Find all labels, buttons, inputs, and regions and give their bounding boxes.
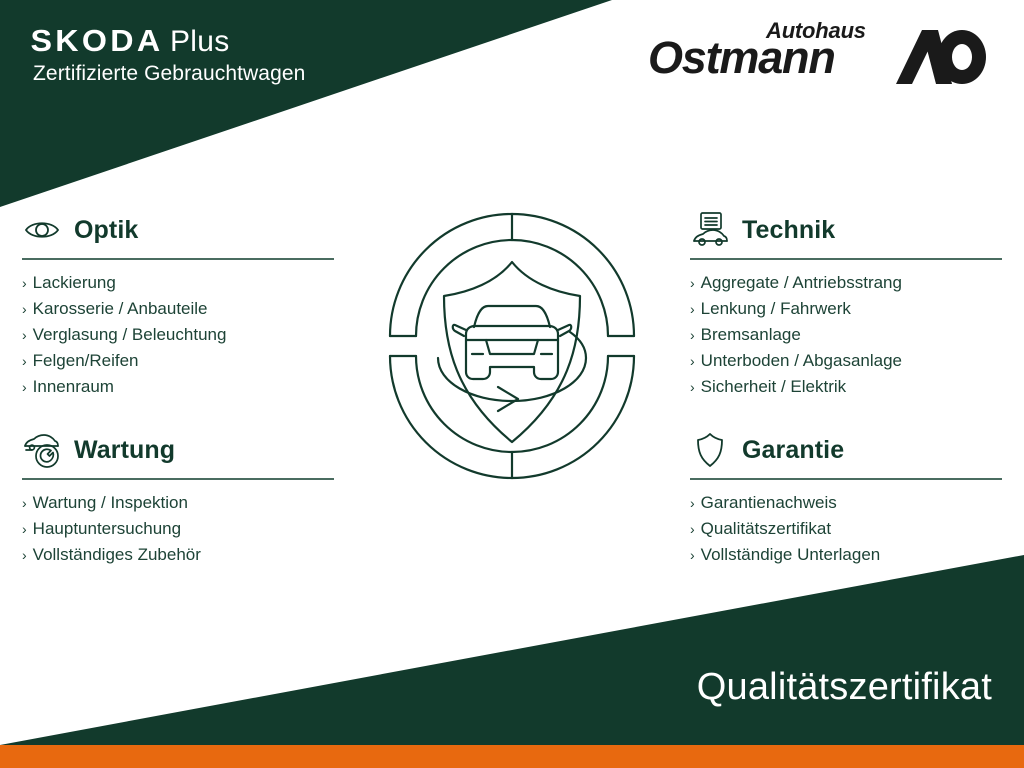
section-header: Wartung	[22, 428, 334, 472]
list-item-label: Verglasung / Beleuchtung	[33, 322, 227, 347]
list-item: ›Sicherheit / Elektrik	[690, 374, 1002, 400]
section-divider	[22, 478, 334, 480]
chevron-right-icon: ›	[22, 297, 27, 322]
list-item-label: Wartung / Inspektion	[33, 490, 188, 515]
chevron-right-icon: ›	[22, 517, 27, 542]
section-list: ›Wartung / Inspektion ›Hauptuntersuchung…	[22, 490, 334, 568]
chevron-right-icon: ›	[690, 375, 695, 400]
page-title: Qualitätszertifikat	[697, 666, 992, 709]
list-item: ›Vollständige Unterlagen	[690, 542, 1002, 568]
car-shield-circle-emblem	[352, 196, 672, 496]
autohaus-ostmann-logo: Autohaus Ostmann	[648, 18, 988, 96]
chevron-right-icon: ›	[22, 491, 27, 516]
skoda-mark-text: SKODA	[30, 24, 163, 58]
list-item-label: Sicherheit / Elektrik	[701, 374, 847, 399]
chevron-right-icon: ›	[22, 543, 27, 568]
list-item-label: Garantienachweis	[701, 490, 837, 515]
chevron-right-icon: ›	[690, 323, 695, 348]
section-header: Garantie	[690, 428, 1002, 472]
chevron-right-icon: ›	[22, 271, 27, 296]
list-item: ›Bremsanlage	[690, 322, 1002, 348]
list-item-label: Vollständige Unterlagen	[701, 542, 881, 567]
list-item: ›Garantienachweis	[690, 490, 1002, 516]
section-header: Optik	[22, 208, 334, 252]
list-item: ›Lenkung / Fahrwerk	[690, 296, 1002, 322]
list-item: ›Felgen/Reifen	[22, 348, 334, 374]
section-list: ›Garantienachweis ›Qualitätszertifikat ›…	[690, 490, 1002, 568]
list-item: ›Aggregate / Antriebsstrang	[690, 270, 1002, 296]
section-divider	[22, 258, 334, 260]
car-wrench-icon	[22, 430, 62, 470]
section-divider	[690, 478, 1002, 480]
list-item-label: Karosserie / Anbauteile	[33, 296, 208, 321]
certificate-page: SKODAPlus Zertifizierte Gebrauchtwagen A…	[0, 0, 1024, 768]
chevron-right-icon: ›	[690, 271, 695, 296]
chevron-right-icon: ›	[690, 543, 695, 568]
section-garantie: Garantie ›Garantienachweis ›Qualitätszer…	[690, 428, 1002, 568]
list-item-label: Lenkung / Fahrwerk	[701, 296, 851, 321]
chevron-right-icon: ›	[22, 375, 27, 400]
chevron-right-icon: ›	[690, 517, 695, 542]
list-item: ›Verglasung / Beleuchtung	[22, 322, 334, 348]
skoda-plus-text: Plus	[170, 25, 230, 58]
shield-icon	[690, 430, 730, 470]
list-item: ›Unterboden / Abgasanlage	[690, 348, 1002, 374]
list-item-label: Aggregate / Antriebsstrang	[701, 270, 902, 295]
list-item: ›Wartung / Inspektion	[22, 490, 334, 516]
chevron-right-icon: ›	[22, 349, 27, 374]
list-item-label: Bremsanlage	[701, 322, 801, 347]
list-item-label: Innenraum	[33, 374, 114, 399]
skoda-plus-logo: SKODAPlus Zertifizierte Gebrauchtwagen	[33, 24, 363, 86]
list-item-label: Hauptuntersuchung	[33, 516, 181, 541]
skoda-wordmark: SKODAPlus	[33, 24, 363, 59]
list-item: ›Karosserie / Anbauteile	[22, 296, 334, 322]
section-title: Technik	[742, 216, 835, 244]
list-item-label: Lackierung	[33, 270, 116, 295]
skoda-subtitle: Zertifizierte Gebrauchtwagen	[33, 61, 363, 86]
eye-icon	[22, 210, 62, 250]
list-item: ›Qualitätszertifikat	[690, 516, 1002, 542]
section-header: Technik	[690, 208, 1002, 252]
section-technik: Technik ›Aggregate / Antriebsstrang ›Len…	[690, 208, 1002, 400]
car-document-icon	[690, 210, 730, 250]
section-title: Optik	[74, 216, 138, 244]
list-item-label: Vollständiges Zubehör	[33, 542, 201, 567]
footer-green-wedge	[0, 555, 1024, 745]
list-item: ›Lackierung	[22, 270, 334, 296]
section-optik: Optik ›Lackierung ›Karosserie / Anbautei…	[22, 208, 334, 400]
section-divider	[690, 258, 1002, 260]
ao-monogram-icon	[892, 26, 988, 88]
list-item: ›Vollständiges Zubehör	[22, 542, 334, 568]
section-title: Garantie	[742, 436, 844, 464]
list-item-label: Felgen/Reifen	[33, 348, 139, 373]
orange-bottom-bar	[0, 745, 1024, 768]
list-item-label: Qualitätszertifikat	[701, 516, 831, 541]
dealer-name-text: Ostmann	[648, 34, 835, 82]
chevron-right-icon: ›	[22, 323, 27, 348]
chevron-right-icon: ›	[690, 491, 695, 516]
list-item-label: Unterboden / Abgasanlage	[701, 348, 902, 373]
section-wartung: Wartung ›Wartung / Inspektion ›Hauptunte…	[22, 428, 334, 568]
section-title: Wartung	[74, 436, 175, 464]
list-item: ›Innenraum	[22, 374, 334, 400]
section-list: ›Lackierung ›Karosserie / Anbauteile ›Ve…	[22, 270, 334, 400]
list-item: ›Hauptuntersuchung	[22, 516, 334, 542]
chevron-right-icon: ›	[690, 297, 695, 322]
chevron-right-icon: ›	[690, 349, 695, 374]
section-list: ›Aggregate / Antriebsstrang ›Lenkung / F…	[690, 270, 1002, 400]
